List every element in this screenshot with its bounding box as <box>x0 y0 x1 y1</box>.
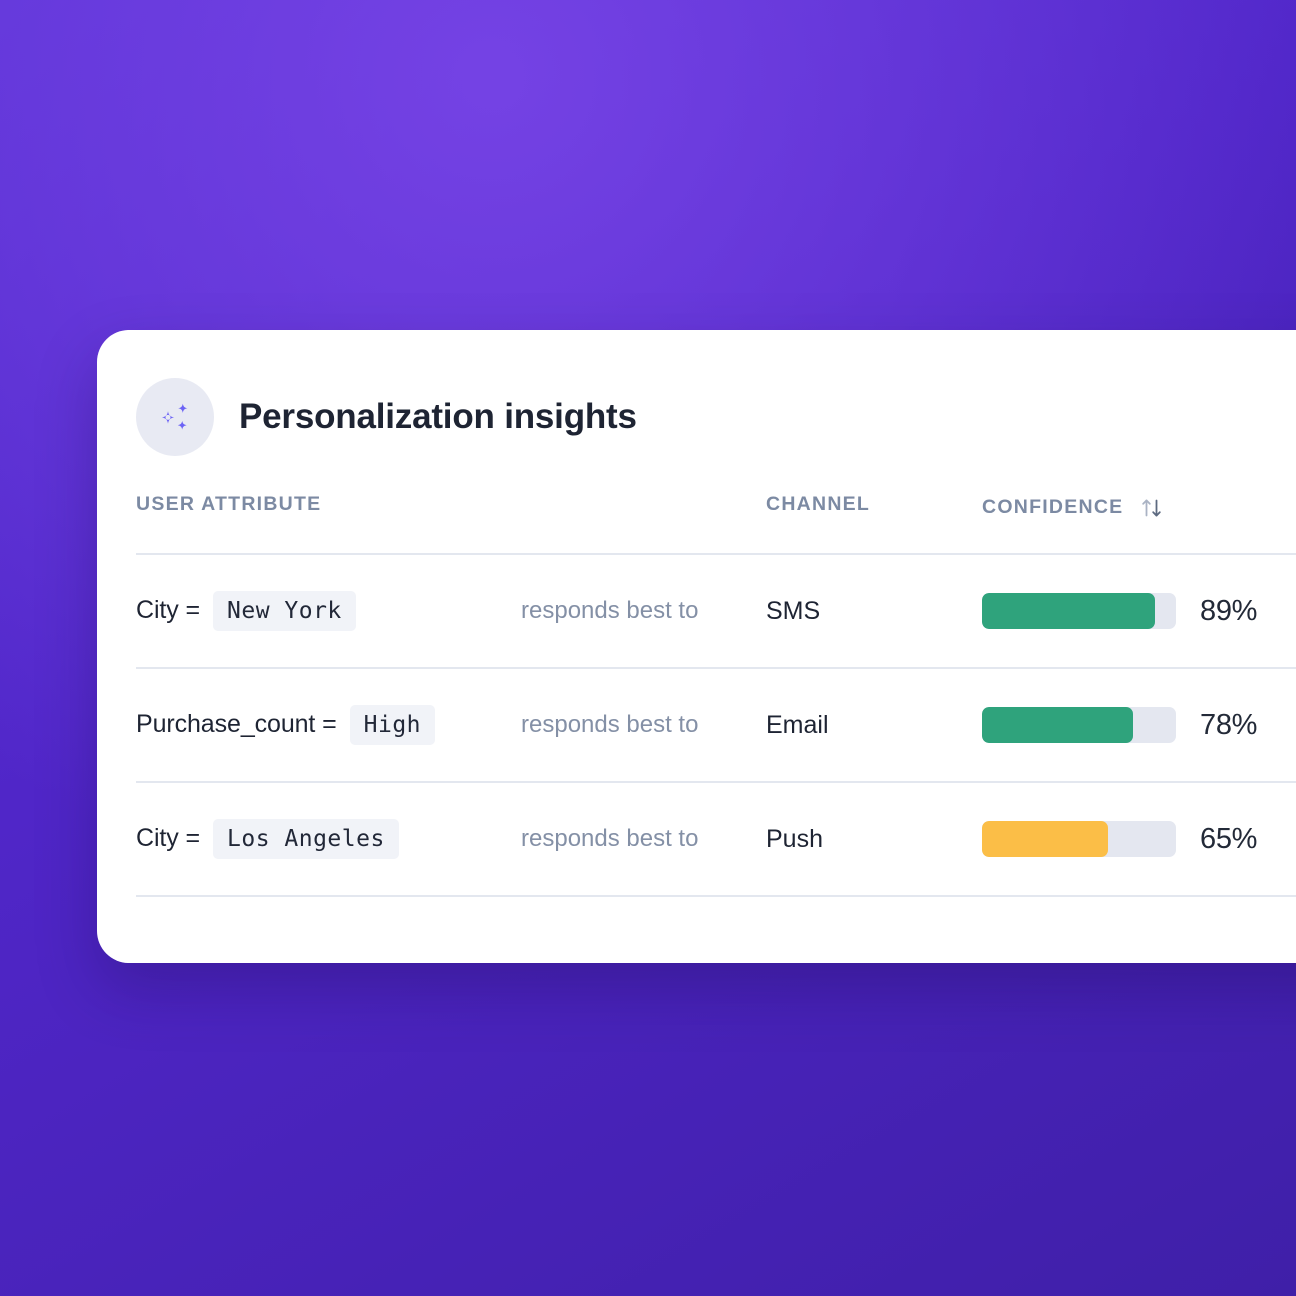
confidence-bar-track <box>982 593 1176 629</box>
insights-table: USER ATTRIBUTE CHANNEL CONFIDENCE <box>136 495 1296 897</box>
confidence-bar-fill <box>982 593 1155 629</box>
relation-phrase: responds best to <box>521 597 698 624</box>
column-header-channel: CHANNEL <box>766 493 870 515</box>
relation-phrase: responds best to <box>521 711 698 738</box>
attribute-value-chip: Los Angeles <box>213 819 399 860</box>
page-background: Personalization insights USER ATTRIBUTE … <box>0 0 1296 1296</box>
attribute-key: City = <box>136 596 200 625</box>
attribute-key: City = <box>136 824 200 853</box>
confidence-bar-track <box>982 821 1176 857</box>
confidence-bar-track <box>982 707 1176 743</box>
confidence-value: 65% <box>1200 823 1257 856</box>
column-header-user-attribute: USER ATTRIBUTE <box>136 495 321 515</box>
attribute-value-chip: High <box>350 705 435 746</box>
column-header-confidence: CONFIDENCE <box>982 498 1123 518</box>
confidence-value: 89% <box>1200 595 1257 628</box>
relation-phrase: responds best to <box>521 825 698 852</box>
table-row[interactable]: City = New York responds best to SMS 89% <box>136 555 1296 667</box>
page-title: Personalization insights <box>239 397 637 437</box>
table-footer-divider <box>136 895 1296 897</box>
attribute-value-chip: New York <box>213 591 356 632</box>
table-header-row: USER ATTRIBUTE CHANNEL CONFIDENCE <box>136 495 1296 553</box>
personalization-insights-card: Personalization insights USER ATTRIBUTE … <box>97 330 1296 963</box>
channel-value: SMS <box>766 597 820 625</box>
channel-value: Email <box>766 711 829 739</box>
attribute-key: Purchase_count = <box>136 710 337 739</box>
confidence-bar-fill <box>982 707 1133 743</box>
table-row[interactable]: City = Los Angeles responds best to Push… <box>136 783 1296 895</box>
sort-arrows-icon[interactable] <box>1139 495 1165 521</box>
confidence-bar-fill <box>982 821 1108 857</box>
channel-value: Push <box>766 825 823 853</box>
sparkle-icon <box>136 378 214 456</box>
table-row[interactable]: Purchase_count = High responds best to E… <box>136 669 1296 781</box>
card-header: Personalization insights <box>136 378 637 456</box>
confidence-value: 78% <box>1200 709 1257 742</box>
